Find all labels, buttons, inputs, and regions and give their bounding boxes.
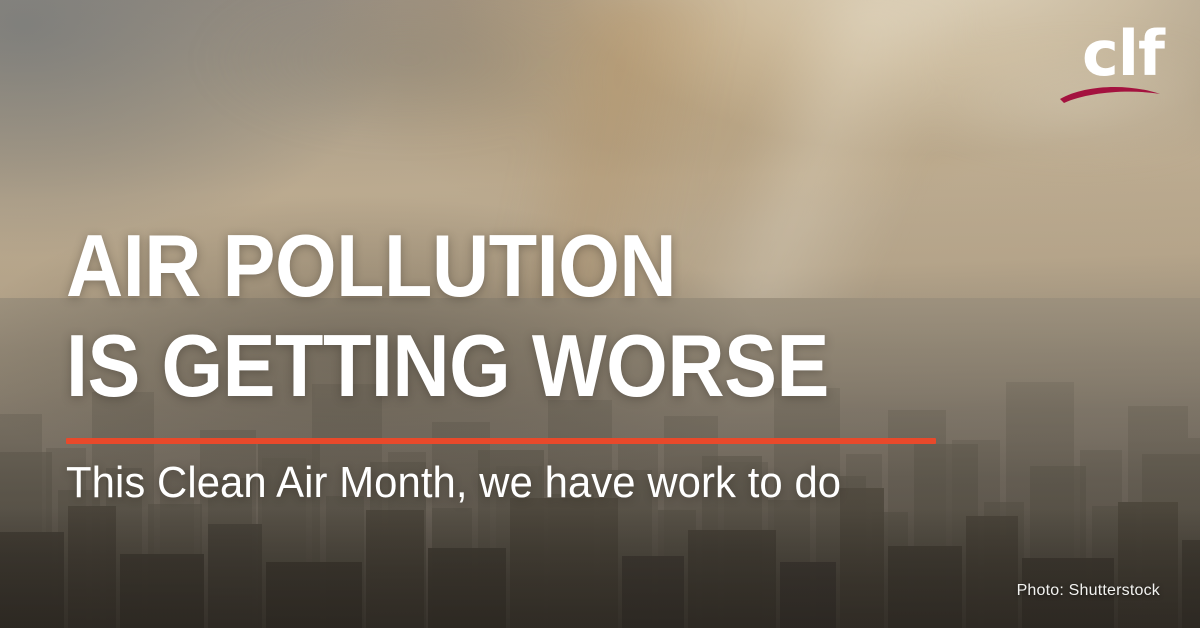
accent-divider xyxy=(66,438,936,444)
page-title: AIR POLLUTION IS GETTING WORSE xyxy=(66,216,829,416)
photo-credit: Photo: Shutterstock xyxy=(1017,581,1160,601)
clf-swoosh-icon xyxy=(1058,82,1162,104)
subtitle: This Clean Air Month, we have work to do xyxy=(66,455,841,511)
clf-logo[interactable]: clf xyxy=(1056,22,1164,106)
promo-graphic: AIR POLLUTION IS GETTING WORSE This Clea… xyxy=(0,0,1200,628)
clf-wordmark: clf xyxy=(1056,22,1164,86)
